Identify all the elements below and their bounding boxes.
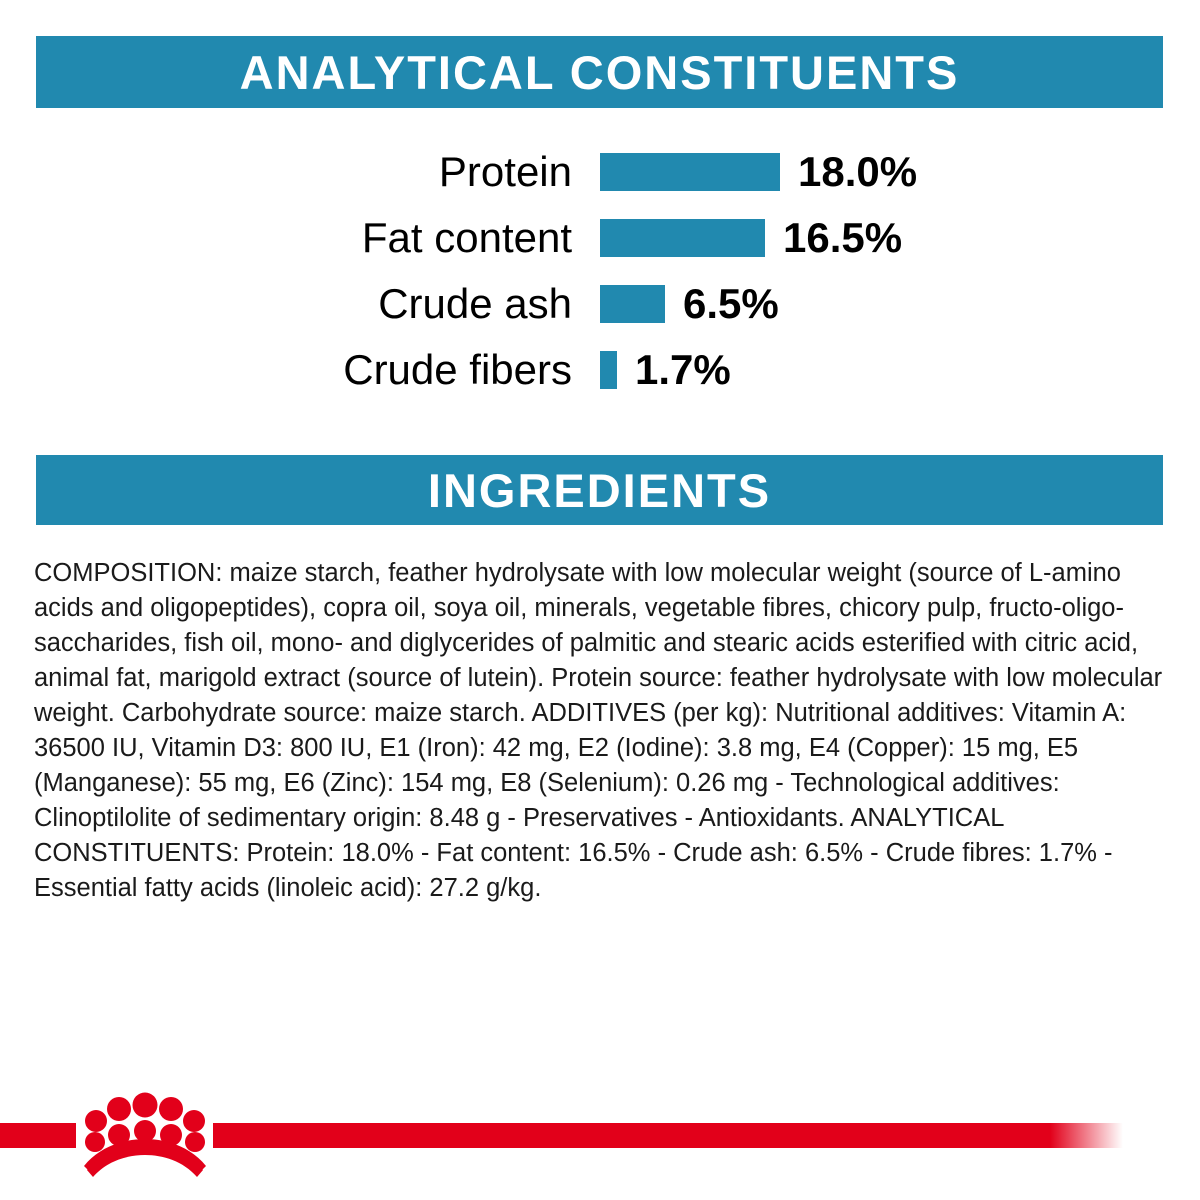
footer-rule-left <box>0 1123 76 1148</box>
ingredients-composition-text: COMPOSITION: maize starch, feather hydro… <box>34 556 1170 906</box>
chart-value-label: 18.0% <box>798 151 917 193</box>
chart-value-label: 6.5% <box>683 283 779 325</box>
chart-bar-group: 1.7% <box>600 340 731 400</box>
chart-value-label: 1.7% <box>635 349 731 391</box>
nutrition-info-page: ANALYTICAL CONSTITUENTS Protein 18.0% Fa… <box>0 0 1200 1200</box>
chart-category-label: Crude ash <box>140 283 572 325</box>
chart-bar <box>600 153 780 191</box>
ingredients-header: INGREDIENTS <box>36 455 1163 525</box>
chart-row: Fat content 16.5% <box>0 208 1200 268</box>
chart-row: Crude ash 6.5% <box>0 274 1200 334</box>
footer-rule-right <box>213 1123 1123 1148</box>
ingredients-title: INGREDIENTS <box>428 467 771 514</box>
chart-bar-group: 18.0% <box>600 142 917 202</box>
chart-bar <box>600 351 617 389</box>
chart-value-label: 16.5% <box>783 217 902 259</box>
chart-bar <box>600 219 765 257</box>
brand-footer <box>0 1090 1200 1200</box>
analytical-constituents-title: ANALYTICAL CONSTITUENTS <box>240 49 960 96</box>
chart-row: Protein 18.0% <box>0 142 1200 202</box>
analytical-constituents-chart: Protein 18.0% Fat content 16.5% Crude as… <box>0 142 1200 402</box>
analytical-constituents-header: ANALYTICAL CONSTITUENTS <box>36 36 1163 108</box>
chart-bar-group: 6.5% <box>600 274 779 334</box>
chart-bar-group: 16.5% <box>600 208 902 268</box>
chart-category-label: Crude fibers <box>140 349 572 391</box>
chart-category-label: Fat content <box>140 217 572 259</box>
chart-category-label: Protein <box>140 151 572 193</box>
chart-row: Crude fibers 1.7% <box>0 340 1200 400</box>
chart-bar <box>600 285 665 323</box>
royal-canin-crown-icon <box>80 1090 210 1185</box>
